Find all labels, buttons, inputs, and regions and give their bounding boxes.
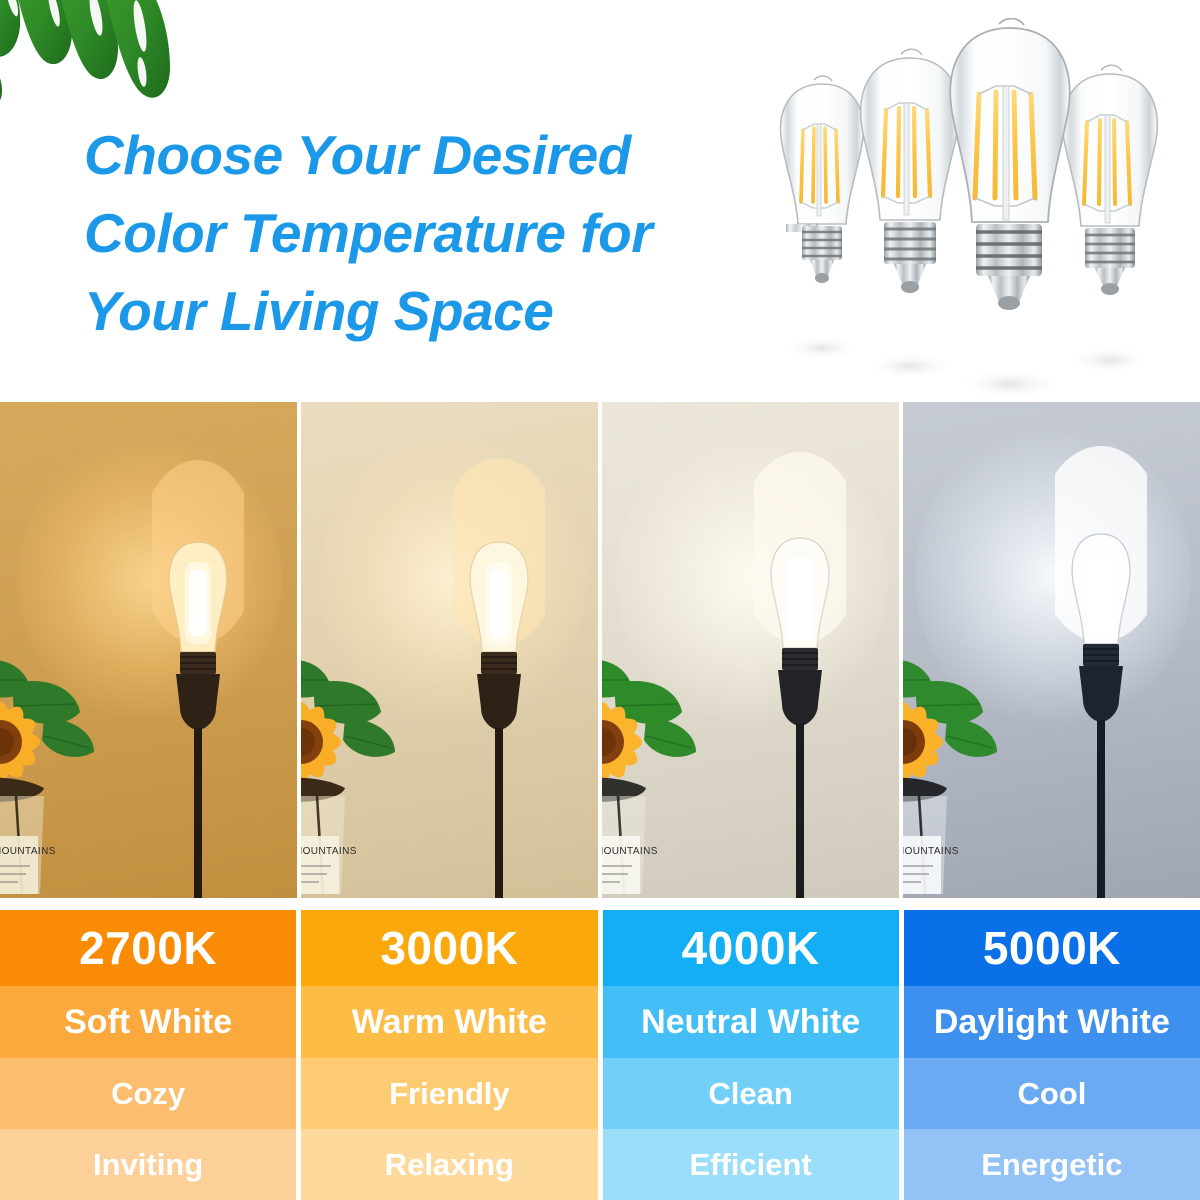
header-banner: Choose Your Desired Color Temperature fo… [0,0,1200,402]
floor-lamp-icon [1055,440,1147,898]
photo-panel-3000k: BLUE MOUNTAINS [301,402,598,898]
headline-line-1: Choose Your Desired [84,116,784,194]
kelvin-label: 3000K [301,910,597,986]
mood-word-2: Relaxing [301,1129,597,1200]
mood-word-2: Energetic [904,1129,1200,1200]
temperature-name: Daylight White [904,986,1200,1058]
vase-label [301,836,339,894]
led-bulb-icon [781,76,864,283]
temperature-name: Warm White [301,986,597,1058]
headline-line-3: Your Living Space [84,272,784,350]
mood-word-2: Efficient [603,1129,899,1200]
floor-lamp-icon [152,440,244,898]
mood-word-1: Cool [904,1058,1200,1129]
kelvin-label: 2700K [0,910,296,986]
swatch-column-4000k: 4000K Neutral White Clean Efficient [603,910,899,1200]
svg-text:BLUE MOUNTAINS: BLUE MOUNTAINS [0,846,56,857]
led-bulb-icon [950,18,1069,310]
color-temperature-swatch-table: 2700K Soft White Cozy Inviting 3000K War… [0,910,1200,1200]
mood-word-1: Friendly [301,1058,597,1129]
vase-label [602,836,640,894]
sunflower-bouquet: BLUE MOUNTAINS [301,646,425,898]
room-scene-photo-strip: BLUE MOUNTAINS [0,402,1200,898]
temperature-name: Soft White [0,986,296,1058]
led-bulb-cluster-icon [762,18,1200,402]
swatch-column-3000k: 3000K Warm White Friendly Relaxing [301,910,597,1200]
temperature-name: Neutral White [603,986,899,1058]
page-headline: Choose Your Desired Color Temperature fo… [84,116,784,350]
photo-panel-4000k: BLUE MOUNTAINS [602,402,899,898]
sunflower-bouquet: BLUE MOUNTAINS [0,646,124,898]
photo-panel-5000k: BLUE MOUNTAINS [903,402,1200,898]
led-bulb-icon [861,49,959,293]
mood-word-1: Clean [603,1058,899,1129]
led-bulb-icon [1063,65,1157,295]
photo-panel-2700k: BLUE MOUNTAINS [0,402,297,898]
headline-line-2: Color Temperature for [84,194,784,272]
sunflower-bouquet: BLUE MOUNTAINS [602,646,726,898]
svg-text:BLUE MOUNTAINS: BLUE MOUNTAINS [301,846,357,857]
vase-label [0,836,38,894]
mood-word-2: Inviting [0,1129,296,1200]
swatch-column-2700k: 2700K Soft White Cozy Inviting [0,910,296,1200]
swatch-column-5000k: 5000K Daylight White Cool Energetic [904,910,1200,1200]
sunflower-bouquet: BLUE MOUNTAINS [903,646,1027,898]
mood-word-1: Cozy [0,1058,296,1129]
svg-text:BLUE MOUNTAINS: BLUE MOUNTAINS [602,846,658,857]
floor-lamp-icon [754,440,846,898]
kelvin-label: 5000K [904,910,1200,986]
svg-text:BLUE MOUNTAINS: BLUE MOUNTAINS [903,846,959,857]
kelvin-label: 4000K [603,910,899,986]
vase-label [903,836,941,894]
floor-lamp-icon [453,440,545,898]
